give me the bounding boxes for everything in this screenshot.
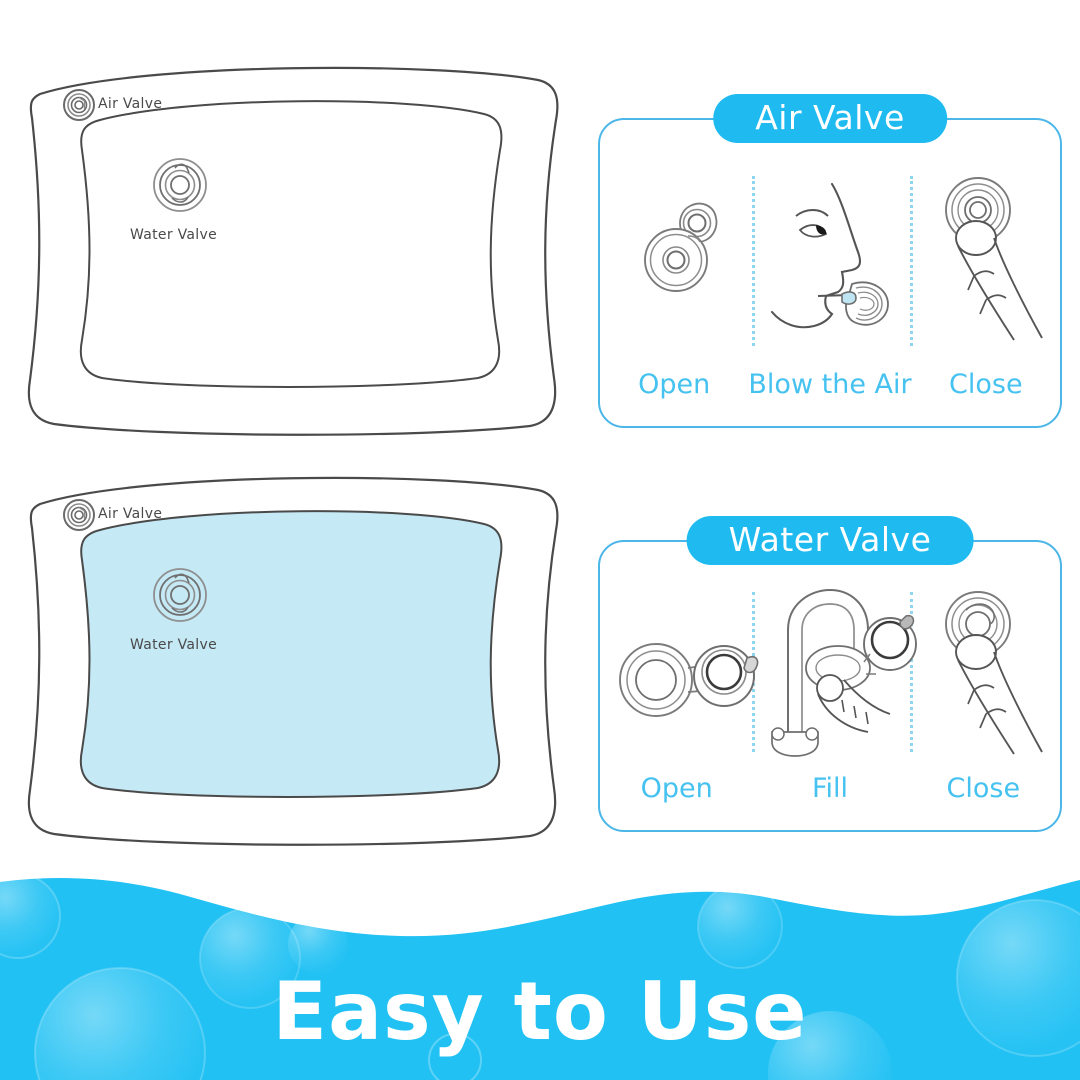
faucet-fill-icon (760, 582, 916, 758)
step-label-close: Close (912, 369, 1060, 400)
step-label-open: Open (600, 369, 748, 400)
banner-headline: Easy to Use (0, 965, 1080, 1058)
water-valve-panel-title: Water Valve (687, 516, 974, 565)
step-label-close: Close (907, 773, 1060, 804)
finger-press-icon (930, 178, 1060, 354)
mat-air-valve-label: Air Valve (98, 506, 162, 522)
water-valve-icon (154, 159, 206, 211)
air-valve-step-labels: Open Blow the Air Close (600, 369, 1060, 400)
air-valve-panel-title: Air Valve (713, 94, 947, 143)
step-label-blow: Blow the Air (748, 369, 911, 400)
air-valve-icon (64, 90, 94, 120)
mat-water-area (81, 511, 502, 797)
mat-water-valve-label: Water Valve (130, 227, 217, 243)
panel-divider (752, 176, 755, 346)
water-valve-step-labels: Open Fill Close (600, 773, 1060, 804)
step-label-fill: Fill (753, 773, 906, 804)
mat-inner-basin (81, 101, 502, 387)
water-valve-open-icon (614, 628, 760, 724)
finger-press-icon (930, 592, 1060, 768)
water-valve-panel: Water Valve (598, 540, 1062, 832)
face-blowing-icon (768, 178, 914, 350)
step-label-open: Open (600, 773, 753, 804)
bottom-banner: Easy to Use (0, 868, 1080, 1080)
air-valve-icon (64, 500, 94, 530)
infographic-canvas: Air Valve Water Valve Air Va (0, 0, 1080, 1080)
valve-open-icon (632, 192, 742, 308)
mat-air-valve-label: Air Valve (98, 96, 162, 112)
mat-water-valve-label: Water Valve (130, 637, 217, 653)
air-valve-panel: Air Valve (598, 118, 1062, 428)
mat-diagram-filled: Air Valve Water Valve (22, 468, 562, 848)
mat-diagram-empty: Air Valve Water Valve (22, 58, 562, 438)
